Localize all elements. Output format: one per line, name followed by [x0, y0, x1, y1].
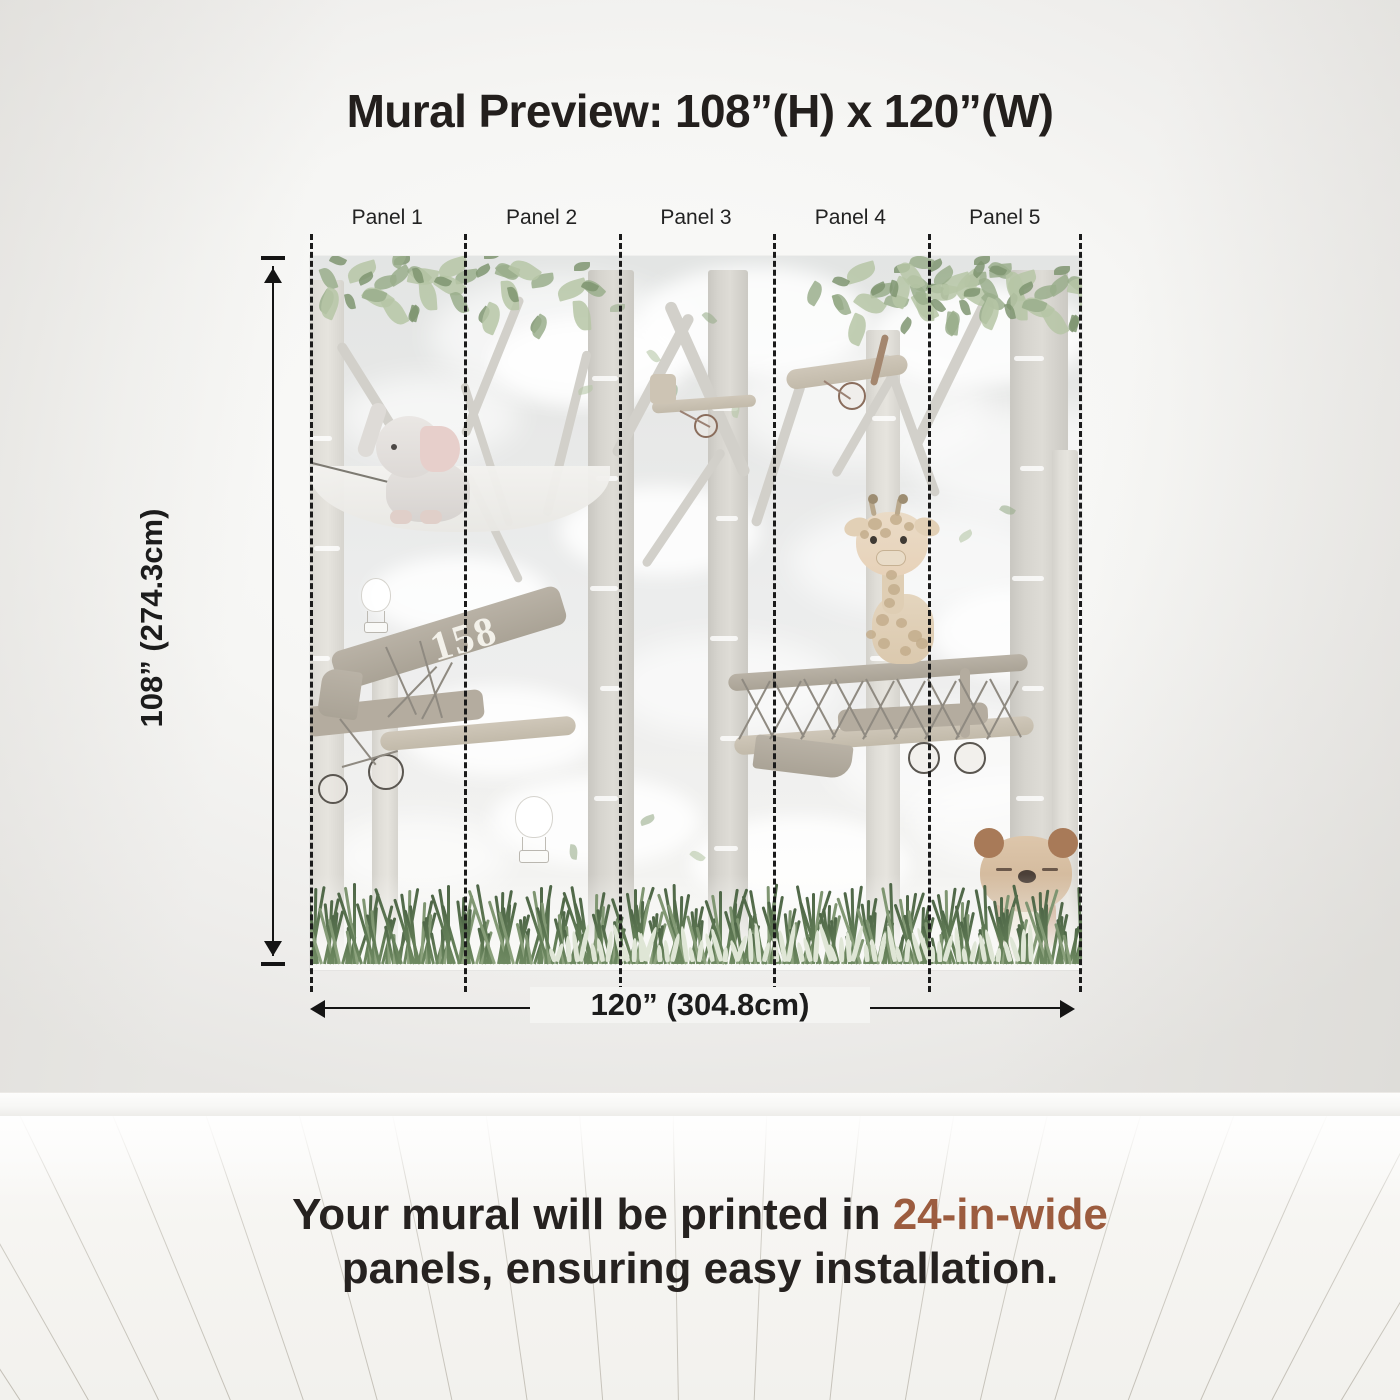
panel-label-3: Panel 3 [619, 206, 773, 230]
airplane-small-right-wheel [838, 382, 866, 410]
height-tick-bottom [261, 962, 285, 966]
airplane-158: 158 [310, 606, 572, 806]
giraffe-spot [860, 530, 869, 539]
caption-line-1: Your mural will be printed in 24-in-wide [0, 1188, 1400, 1242]
bark-mark [1016, 796, 1044, 801]
panel-label-5: Panel 5 [928, 206, 1082, 230]
balloon-basket [364, 622, 388, 633]
room-scene: Mural Preview: 108”(H) x 120”(W) 108” (2… [0, 0, 1400, 1400]
giraffe-spot [896, 618, 907, 628]
mural-preview[interactable]: 158 [310, 256, 1082, 970]
airplane-giraffe-wheel-left [908, 742, 940, 774]
giraffe-eye-left [870, 536, 877, 544]
bear-eye-left [996, 868, 1012, 871]
leaf [474, 263, 492, 278]
airplane-158-wheel-front [318, 774, 348, 804]
grass-sprig [565, 936, 572, 962]
balloon-line [545, 837, 546, 851]
leaf [484, 256, 500, 259]
giraffe-spot [888, 584, 900, 595]
caption-accent: 24-in-wide [893, 1190, 1108, 1239]
bear-ear-left [974, 828, 1004, 858]
panel-divider [619, 234, 622, 992]
giraffe-spot [866, 630, 876, 639]
elephant [358, 382, 488, 532]
biplane-strut [772, 679, 805, 738]
elephant-foot [420, 510, 442, 524]
grass-sprig [1027, 924, 1033, 962]
grass-sprig [639, 933, 645, 962]
panel-label-2: Panel 2 [464, 206, 618, 230]
caption: Your mural will be printed in 24-in-wide… [0, 1188, 1400, 1296]
bark-mark [600, 686, 620, 691]
balloon-line [522, 837, 523, 851]
giraffe-spot [916, 638, 928, 649]
width-arrow-right-icon [1060, 1000, 1075, 1018]
height-dimension-line [272, 266, 274, 956]
giraffe [838, 498, 950, 678]
giraffe-spot [890, 514, 902, 525]
balloon-envelope [361, 578, 391, 612]
bark-mark [710, 636, 738, 641]
panel-divider [1079, 234, 1082, 992]
elephant-eye [391, 444, 397, 450]
giraffe-spot [884, 598, 895, 608]
grass-sprig [839, 937, 844, 962]
panel-label-1: Panel 1 [310, 206, 464, 230]
giraffe-muzzle [876, 550, 906, 566]
elephant-foot [390, 510, 412, 524]
width-arrow-left-icon [310, 1000, 325, 1018]
caption-line-2: panels, ensuring easy installation. [0, 1242, 1400, 1296]
grass-sprig [663, 940, 670, 962]
bark-mark [1014, 356, 1044, 361]
giraffe-spot [904, 522, 914, 531]
giraffe-spot [878, 638, 890, 649]
giraffe-ossicone-left-tip [868, 494, 878, 504]
giraffe-spot [880, 528, 891, 538]
biplane-strut [803, 679, 836, 738]
bark-mark [1012, 576, 1044, 581]
grass-sprig [723, 947, 729, 962]
hot-air-balloon-lower [510, 796, 558, 872]
airplane-giraffe-wheel-right [954, 742, 986, 774]
height-tick-top [261, 256, 285, 260]
page-title: Mural Preview: 108”(H) x 120”(W) [0, 84, 1400, 138]
leaf [574, 262, 590, 271]
grass-sprig [1021, 929, 1027, 962]
bark-mark [590, 586, 618, 591]
airplane-158-tail [317, 667, 363, 720]
panel-divider [464, 234, 467, 992]
leaf [844, 260, 878, 285]
bark-mark [1020, 466, 1044, 471]
height-dimension-label: 108” (274.3cm) [134, 448, 170, 788]
baseboard [0, 1092, 1400, 1118]
leaf [344, 293, 356, 311]
panel-divider [310, 234, 313, 992]
height-arrow-down-icon [264, 941, 282, 956]
panel-divider [928, 234, 931, 992]
bark-mark [716, 516, 738, 521]
width-dimension-label: 120” (304.8cm) [530, 987, 870, 1023]
bark-mark [714, 846, 738, 851]
giraffe-ossicone-right-tip [898, 494, 908, 504]
balloon-envelope [515, 796, 553, 838]
elephant-ear [420, 426, 460, 472]
airplane-small-right [780, 332, 928, 442]
giraffe-spot [900, 646, 911, 656]
bear-ear-right [1048, 828, 1078, 858]
tree-trunk [588, 270, 634, 970]
airplane-small-left-cabin [650, 374, 676, 404]
caption-line-1-before: Your mural will be printed in [292, 1190, 893, 1239]
panel-label-4: Panel 4 [773, 206, 927, 230]
balloon-basket [519, 850, 549, 863]
grass-layer [310, 874, 1082, 970]
hot-air-balloon-upper [356, 578, 396, 644]
grass-sprig [632, 938, 638, 962]
mural-artwork: 158 [310, 256, 1082, 970]
leaf [329, 256, 347, 268]
bark-mark [594, 796, 618, 801]
airplane-small-left [652, 368, 764, 450]
giraffe-spot [876, 614, 889, 626]
giraffe-eye-right [900, 536, 907, 544]
bark-mark [592, 376, 618, 381]
panel-divider [773, 234, 776, 992]
giraffe-spot [886, 570, 897, 580]
leaf [380, 294, 409, 328]
giraffe-spot [868, 518, 882, 530]
bear-eye-right [1042, 868, 1058, 871]
